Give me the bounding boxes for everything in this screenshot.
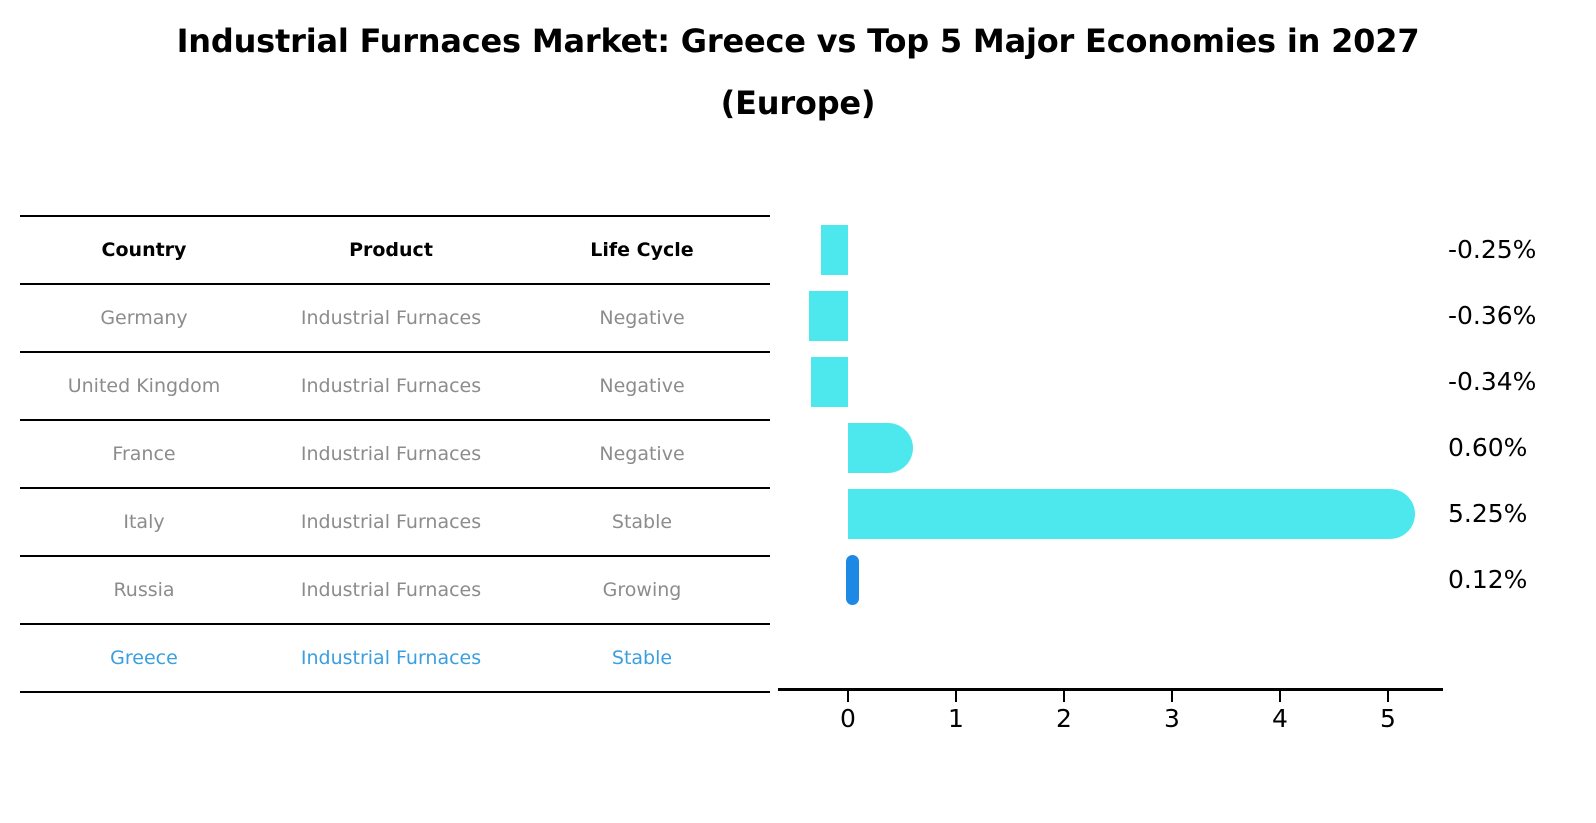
x-axis-tick — [1279, 691, 1281, 702]
column-header-product: Product — [268, 216, 514, 284]
plot-area: 012345 — [778, 215, 1443, 690]
x-axis-tick — [955, 691, 957, 702]
bar-greece — [846, 555, 859, 605]
value-label: -0.25% — [1448, 225, 1536, 275]
value-label: -0.34% — [1448, 357, 1536, 407]
column-header-country: Country — [20, 216, 268, 284]
value-label: 5.25% — [1448, 489, 1527, 539]
product-cell: Industrial Furnaces — [268, 488, 514, 556]
country-cell: Greece — [20, 624, 268, 692]
country-cell: Germany — [20, 284, 268, 352]
country-table: Country Product Life Cycle GermanyIndust… — [20, 215, 770, 693]
country-table-container: Country Product Life Cycle GermanyIndust… — [20, 215, 770, 693]
chart-page: Industrial Furnaces Market: Greece vs To… — [0, 0, 1596, 823]
value-label-column: -0.25%-0.36%-0.34%0.60%5.25%0.12% — [1448, 215, 1578, 690]
x-axis-tick-label: 3 — [1164, 704, 1180, 733]
life-cycle-cell: Negative — [514, 420, 770, 488]
table-row: GreeceIndustrial FurnacesStable — [20, 624, 770, 692]
table-row: GermanyIndustrial FurnacesNegative — [20, 284, 770, 352]
life-cycle-cell: Negative — [514, 352, 770, 420]
value-label: 0.60% — [1448, 423, 1527, 473]
table-row: FranceIndustrial FurnacesNegative — [20, 420, 770, 488]
x-axis-tick-label: 0 — [840, 704, 856, 733]
product-cell: Industrial Furnaces — [268, 624, 514, 692]
bar-chart: 012345 -0.25%-0.36%-0.34%0.60%5.25%0.12% — [778, 215, 1578, 735]
bar-germany — [821, 225, 848, 275]
x-axis-tick — [1171, 691, 1173, 702]
bar-united-kingdom — [809, 291, 848, 341]
country-cell: Russia — [20, 556, 268, 624]
x-axis-tick-label: 1 — [948, 704, 964, 733]
bar-russia — [848, 489, 1415, 539]
title-line-1: Industrial Furnaces Market: Greece vs To… — [0, 10, 1596, 72]
column-header-life-cycle: Life Cycle — [514, 216, 770, 284]
x-axis-tick — [1063, 691, 1065, 702]
x-axis-tick — [847, 691, 849, 702]
table-body: GermanyIndustrial FurnacesNegativeUnited… — [20, 284, 770, 692]
table-row: RussiaIndustrial FurnacesGrowing — [20, 556, 770, 624]
table-row: ItalyIndustrial FurnacesStable — [20, 488, 770, 556]
x-axis-tick-label: 4 — [1272, 704, 1288, 733]
product-cell: Industrial Furnaces — [268, 556, 514, 624]
life-cycle-cell: Stable — [514, 488, 770, 556]
table-header-row: Country Product Life Cycle — [20, 216, 770, 284]
x-axis-tick-label: 5 — [1380, 704, 1396, 733]
life-cycle-cell: Negative — [514, 284, 770, 352]
value-label: 0.12% — [1448, 555, 1527, 605]
title-line-2: (Europe) — [0, 72, 1596, 134]
x-axis-tick — [1387, 691, 1389, 702]
x-axis-tick-label: 2 — [1056, 704, 1072, 733]
country-cell: France — [20, 420, 268, 488]
life-cycle-cell: Growing — [514, 556, 770, 624]
country-cell: Italy — [20, 488, 268, 556]
x-axis-line — [778, 688, 1443, 691]
product-cell: Industrial Furnaces — [268, 352, 514, 420]
product-cell: Industrial Furnaces — [268, 284, 514, 352]
table-row: United KingdomIndustrial FurnacesNegativ… — [20, 352, 770, 420]
bar-france — [811, 357, 848, 407]
country-cell: United Kingdom — [20, 352, 268, 420]
page-title: Industrial Furnaces Market: Greece vs To… — [0, 10, 1596, 134]
product-cell: Industrial Furnaces — [268, 420, 514, 488]
life-cycle-cell: Stable — [514, 624, 770, 692]
bar-italy — [848, 423, 913, 473]
value-label: -0.36% — [1448, 291, 1536, 341]
